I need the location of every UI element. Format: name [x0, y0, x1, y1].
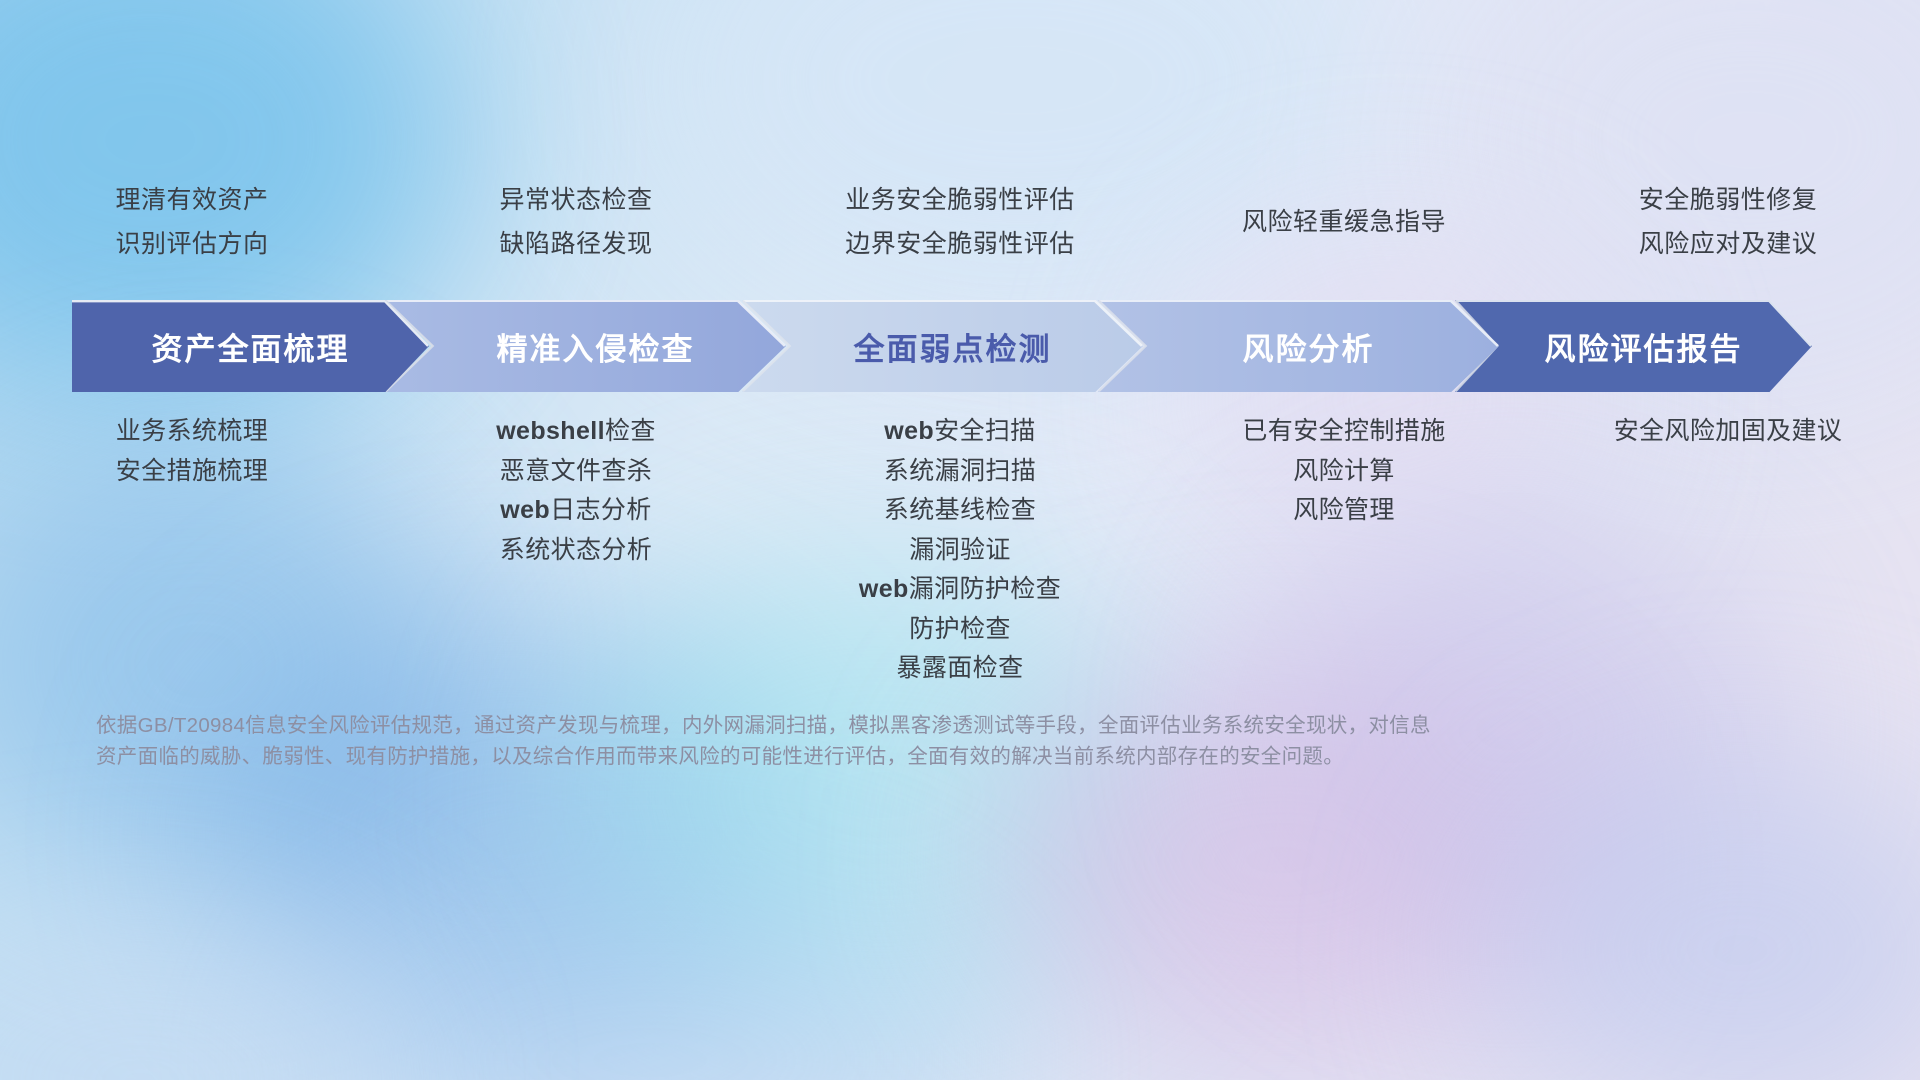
footer-line: 依据GB/T20984信息安全风险评估规范，通过资产发现与梳理，内外网漏洞扫描，… [96, 710, 1826, 741]
bottom-label: 风险计算 [1152, 452, 1536, 492]
chevron-stage-3[interactable]: 全面弱点检测 [742, 300, 1143, 392]
top-label: 异常状态检查 [384, 178, 768, 222]
top-label: 识别评估方向 [0, 222, 384, 266]
diagram-stage: 理清有效资产 识别评估方向 异常状态检查 缺陷路径发现 业务安全脆弱性评估 边界… [0, 0, 1920, 1080]
top-labels-stage-1: 理清有效资产 识别评估方向 [0, 178, 384, 266]
bottom-label: web日志分析 [384, 491, 768, 531]
footer-line: 资产面临的威胁、脆弱性、现有防护措施，以及综合作用而带来风险的可能性进行评估，全… [96, 741, 1826, 772]
top-labels-row: 理清有效资产 识别评估方向 异常状态检查 缺陷路径发现 业务安全脆弱性评估 边界… [0, 178, 1920, 266]
chevron-stage-5[interactable]: 风险评估报告 [1455, 300, 1812, 392]
bottom-label: 业务系统梳理 [0, 412, 384, 452]
top-labels-stage-2: 异常状态检查 缺陷路径发现 [384, 178, 768, 266]
top-label: 风险应对及建议 [1536, 222, 1920, 266]
top-label: 业务安全脆弱性评估 [768, 178, 1152, 222]
top-label: 理清有效资产 [0, 178, 384, 222]
bottom-labels-stage-4: 已有安全控制措施 风险计算 风险管理 [1152, 412, 1536, 689]
top-label: 边界安全脆弱性评估 [768, 222, 1152, 266]
chevron-stage-2[interactable]: 精准入侵检查 [385, 300, 786, 392]
top-label: 安全脆弱性修复 [1536, 178, 1920, 222]
bottom-label: 恶意文件查杀 [384, 452, 768, 492]
bottom-label: 风险管理 [1152, 491, 1536, 531]
chevron-label: 风险分析 [1243, 324, 1375, 369]
bottom-label: 已有安全控制措施 [1152, 412, 1536, 452]
chevron-stage-4[interactable]: 风险分析 [1098, 300, 1499, 392]
bottom-label: 系统基线检查 [768, 491, 1152, 531]
bottom-labels-stage-3: web安全扫描 系统漏洞扫描 系统基线检查 漏洞验证 web漏洞防护检查 防护检… [768, 412, 1152, 689]
bottom-label: web安全扫描 [768, 412, 1152, 452]
bottom-label: web漏洞防护检查 [768, 570, 1152, 610]
footer-description: 依据GB/T20984信息安全风险评估规范，通过资产发现与梳理，内外网漏洞扫描，… [96, 710, 1826, 772]
bottom-label: 系统状态分析 [384, 531, 768, 571]
top-label: 风险轻重缓急指导 [1152, 178, 1536, 266]
top-labels-stage-5: 安全脆弱性修复 风险应对及建议 [1536, 178, 1920, 266]
bottom-labels-stage-2: webshell检查 恶意文件查杀 web日志分析 系统状态分析 [384, 412, 768, 689]
bottom-labels-stage-1: 业务系统梳理 安全措施梳理 [0, 412, 384, 689]
bottom-label: 暴露面检查 [768, 649, 1152, 689]
bottom-labels-row: 业务系统梳理 安全措施梳理 webshell检查 恶意文件查杀 web日志分析 … [0, 412, 1920, 689]
top-labels-stage-3: 业务安全脆弱性评估 边界安全脆弱性评估 [768, 178, 1152, 266]
bottom-label: 系统漏洞扫描 [768, 452, 1152, 492]
chevron-label: 精准入侵检查 [497, 324, 695, 369]
bottom-label: 安全措施梳理 [0, 452, 384, 492]
chevron-stage-1[interactable]: 资产全面梳理 [72, 300, 429, 392]
bottom-label: 安全风险加固及建议 [1536, 412, 1920, 452]
bottom-label: 漏洞验证 [768, 531, 1152, 571]
chevron-label: 风险评估报告 [1545, 324, 1743, 369]
top-label: 缺陷路径发现 [384, 222, 768, 266]
bottom-label: 防护检查 [768, 610, 1152, 650]
chevron-label: 资产全面梳理 [152, 324, 350, 369]
process-chevron-bar: 资产全面梳理 精准入侵检查 [72, 300, 1812, 392]
top-labels-stage-4: 风险轻重缓急指导 [1152, 178, 1536, 266]
bottom-label: webshell检查 [384, 412, 768, 452]
chevron-label: 全面弱点检测 [854, 324, 1052, 369]
bottom-labels-stage-5: 安全风险加固及建议 [1536, 412, 1920, 689]
